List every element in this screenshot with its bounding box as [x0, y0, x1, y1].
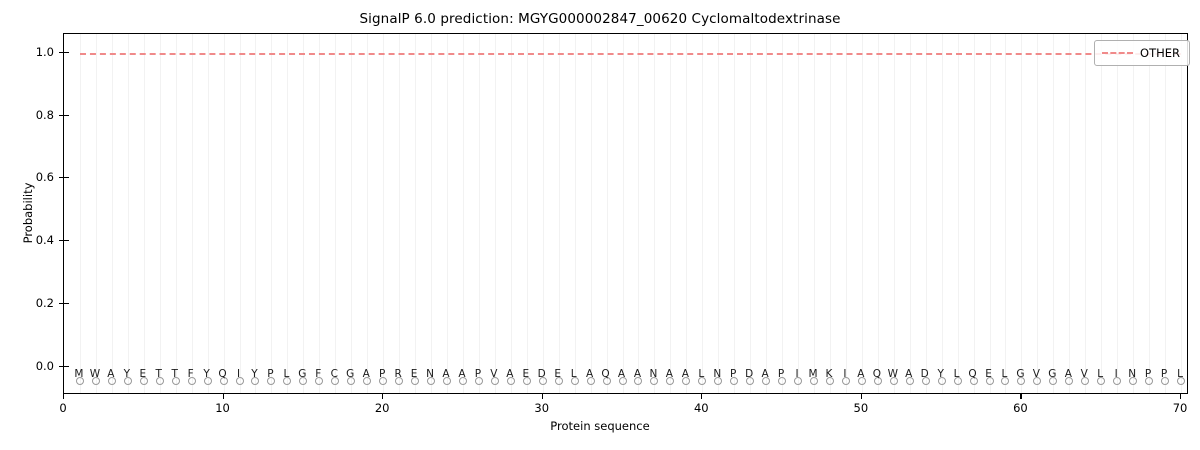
x-axis-tick: [701, 394, 702, 399]
residue-letter: P: [730, 368, 736, 380]
residue-letter: M: [74, 368, 83, 380]
residue-letter: Q: [218, 368, 226, 380]
residue-letter: Y: [203, 368, 209, 380]
plot-area: [63, 33, 1188, 394]
residue-letter: L: [698, 368, 704, 380]
y-axis-tick: [59, 240, 69, 241]
residue-letter: L: [1177, 368, 1183, 380]
residue-letter: A: [506, 368, 513, 380]
residue-letter: N: [649, 368, 657, 380]
residue-letter: A: [905, 368, 912, 380]
residue-letter: Y: [937, 368, 943, 380]
residue-letter: L: [954, 368, 960, 380]
residue-letter: T: [171, 368, 177, 380]
x-axis-tick-label: 70: [1173, 401, 1188, 415]
residue-letter: A: [618, 368, 625, 380]
residue-letter: L: [1002, 368, 1008, 380]
residue-letter: G: [346, 368, 354, 380]
residue-letter: A: [762, 368, 769, 380]
residue-letter: G: [1016, 368, 1024, 380]
y-axis-tick-label: 0.6: [36, 170, 54, 184]
x-axis-tick-label: 10: [215, 401, 230, 415]
y-axis-tick-label: 0.2: [36, 296, 54, 310]
residue-letter: D: [921, 368, 929, 380]
x-axis-tick: [223, 394, 224, 399]
residue-letter: N: [1128, 368, 1136, 380]
residue-letter: A: [586, 368, 593, 380]
residue-letter: A: [857, 368, 864, 380]
x-axis-tick: [861, 394, 862, 399]
residue-letter: P: [267, 368, 273, 380]
residue-letter: F: [188, 368, 194, 380]
residue-letter: K: [826, 368, 833, 380]
x-axis-tick: [63, 394, 64, 399]
x-axis-label: Protein sequence: [0, 419, 1200, 433]
x-axis-tick-label: 40: [694, 401, 709, 415]
residue-letter: I: [1115, 368, 1118, 380]
residue-letter: Y: [251, 368, 257, 380]
chart-title: SignalP 6.0 prediction: MGYG000002847_00…: [0, 11, 1200, 27]
residue-letter: E: [554, 368, 561, 380]
residue-letter: L: [1097, 368, 1103, 380]
y-axis-tick: [59, 366, 69, 367]
residue-letter: E: [985, 368, 992, 380]
y-axis-tick-label: 1.0: [36, 45, 54, 59]
residue-letter: M: [808, 368, 817, 380]
y-axis-tick: [59, 52, 69, 53]
residue-letter: I: [795, 368, 798, 380]
residue-letter: N: [426, 368, 434, 380]
residue-letter: N: [713, 368, 721, 380]
residue-letter: Q: [968, 368, 976, 380]
residue-letter: E: [411, 368, 418, 380]
y-axis-tick-label: 0.0: [36, 359, 54, 373]
residue-letter: D: [745, 368, 753, 380]
residue-letter: E: [522, 368, 529, 380]
residue-letter: C: [331, 368, 338, 380]
residue-letter: F: [315, 368, 321, 380]
y-axis-tick: [59, 115, 69, 116]
residue-letter: V: [1033, 368, 1040, 380]
residue-letter: A: [1065, 368, 1072, 380]
y-axis-tick-label: 0.8: [36, 108, 54, 122]
residue-letter: P: [1145, 368, 1151, 380]
residue-letter: A: [682, 368, 689, 380]
residue-letter: P: [1161, 368, 1167, 380]
x-axis-tick: [382, 394, 383, 399]
x-axis-tick-label: 30: [534, 401, 549, 415]
residue-letter: Q: [601, 368, 609, 380]
residue-markers: [64, 34, 1187, 393]
residue-letter: E: [139, 368, 146, 380]
y-axis-label: Probability: [21, 173, 35, 253]
x-axis-tick-label: 0: [59, 401, 66, 415]
legend[interactable]: OTHER: [1094, 40, 1190, 66]
signalp-prediction-figure: SignalP 6.0 prediction: MGYG000002847_00…: [0, 0, 1200, 450]
residue-letter: A: [458, 368, 465, 380]
residue-letter: V: [490, 368, 497, 380]
residue-letter: I: [237, 368, 240, 380]
residue-letter: P: [379, 368, 385, 380]
residue-letter: A: [634, 368, 641, 380]
x-axis-tick-label: 50: [854, 401, 869, 415]
legend-swatch-other-icon: [1102, 52, 1133, 54]
residue-letter: D: [538, 368, 546, 380]
y-axis-tick: [59, 303, 69, 304]
residue-letter: A: [363, 368, 370, 380]
residue-letter: P: [778, 368, 784, 380]
residue-letter: I: [843, 368, 846, 380]
residue-letter: W: [90, 368, 100, 380]
x-axis-tick: [1020, 394, 1021, 399]
residue-letter: Q: [873, 368, 881, 380]
residue-letter: T: [156, 368, 162, 380]
residue-letter: A: [107, 368, 114, 380]
legend-label-other: OTHER: [1140, 46, 1180, 60]
residue-letter: G: [1048, 368, 1056, 380]
residue-letter: R: [394, 368, 401, 380]
residue-letter: L: [283, 368, 289, 380]
residue-letter: A: [666, 368, 673, 380]
y-axis-tick-label: 0.4: [36, 233, 54, 247]
x-axis-tick: [542, 394, 543, 399]
y-axis-tick: [59, 177, 69, 178]
x-axis-tick-label: 20: [375, 401, 390, 415]
residue-letter: P: [475, 368, 481, 380]
x-axis-tick: [1180, 394, 1181, 399]
residue-letter: W: [888, 368, 898, 380]
residue-letter: Y: [124, 368, 130, 380]
x-axis-tick-label: 60: [1013, 401, 1028, 415]
residue-letter: V: [1081, 368, 1088, 380]
residue-letter: L: [571, 368, 577, 380]
residue-letter: A: [442, 368, 449, 380]
residue-letter: G: [298, 368, 306, 380]
